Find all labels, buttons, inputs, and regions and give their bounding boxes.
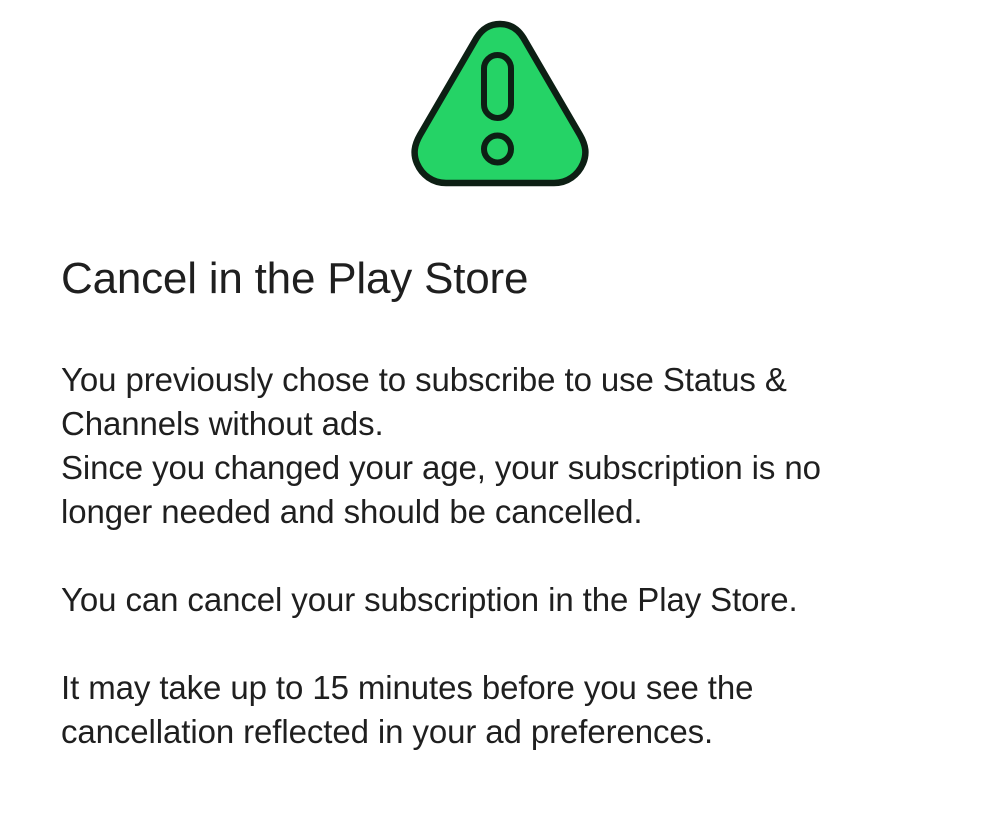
- paragraph-line: Since you changed your age, your subscri…: [61, 446, 961, 490]
- warning-triangle-exclamation-icon: [407, 18, 593, 190]
- paragraph-intro: You previously chose to subscribe to use…: [61, 358, 961, 534]
- exclamation-dot: [484, 136, 511, 163]
- paragraph-line: You previously chose to subscribe to use…: [61, 358, 961, 402]
- warning-icon-container: [0, 18, 1000, 194]
- paragraph-where-to-cancel: You can cancel your subscription in the …: [61, 578, 961, 622]
- paragraph-delay-notice: It may take up to 15 minutes before you …: [61, 666, 961, 754]
- content-column: Cancel in the Play Store You previously …: [61, 252, 961, 754]
- exclamation-bar: [484, 55, 511, 118]
- paragraph-line: You can cancel your subscription in the …: [61, 578, 961, 622]
- cancel-subscription-screen: Cancel in the Play Store You previously …: [0, 0, 1000, 831]
- paragraph-line: It may take up to 15 minutes before you …: [61, 666, 961, 710]
- body-text: You previously chose to subscribe to use…: [61, 358, 961, 754]
- page-title: Cancel in the Play Store: [61, 252, 961, 306]
- paragraph-line: cancellation reflected in your ad prefer…: [61, 710, 961, 754]
- paragraph-line: Channels without ads.: [61, 402, 961, 446]
- triangle-shape: [415, 24, 586, 183]
- paragraph-line: longer needed and should be cancelled.: [61, 490, 961, 534]
